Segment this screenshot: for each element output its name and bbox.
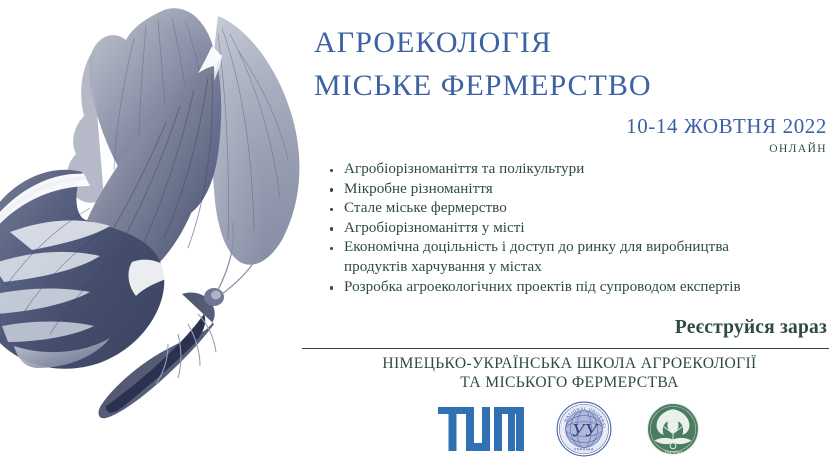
tum-logo <box>438 407 524 451</box>
list-item: Стале міське фермерство <box>328 199 788 219</box>
tree-emblem-caption: Україна <box>664 449 682 455</box>
seal-monogram: УУ <box>571 420 599 441</box>
horizontal-divider <box>302 348 829 349</box>
list-item: Розробка агроекологічних проектів під су… <box>328 278 788 298</box>
list-item: Мікробне різноманіття <box>328 180 788 200</box>
butterfly-illustration <box>0 0 316 473</box>
university-seal-logo: УУ NATIONAL UNIVERSITY УКРАЇНА <box>556 401 612 457</box>
topics-list: Агробіорізноманіття та полікультури Мікр… <box>328 160 788 297</box>
list-item: Агробіорізноманіття у місті <box>328 219 788 239</box>
poster-canvas: АГРОЕКОЛОГІЯ МІСЬКЕ ФЕРМЕРСТВО 10-14 ЖОВ… <box>0 0 839 473</box>
school-name-line-2: ТА МІСЬКОГО ФЕРМЕРСТВА <box>300 373 839 392</box>
content-column: АГРОЕКОЛОГІЯ МІСЬКЕ ФЕРМЕРСТВО 10-14 ЖОВ… <box>300 0 839 473</box>
school-name-line-1: НІМЕЦЬКО-УКРАЇНСЬКА ШКОЛА АГРОЕКОЛОГІЇ <box>300 354 839 373</box>
register-cta[interactable]: Реєструйся зараз <box>675 317 827 339</box>
school-name: НІМЕЦЬКО-УКРАЇНСЬКА ШКОЛА АГРОЕКОЛОГІЇ Т… <box>300 354 839 392</box>
list-item: Агробіорізноманіття та полікультури <box>328 160 788 180</box>
seal-caption: УКРАЇНА <box>573 446 593 451</box>
list-item: Економічна доцільність і доступ до ринку… <box>328 238 788 277</box>
event-format: ОНЛАЙН <box>769 143 827 155</box>
event-date: 10-14 ЖОВТНЯ 2022 <box>626 114 827 139</box>
tree-emblem-logo: Україна <box>644 400 702 458</box>
logo-row: УУ NATIONAL UNIVERSITY УКРАЇНА <box>300 396 839 462</box>
page-title: АГРОЕКОЛОГІЯ МІСЬКЕ ФЕРМЕРСТВО <box>314 22 814 107</box>
title-line-1: АГРОЕКОЛОГІЯ <box>314 22 814 65</box>
title-line-2: МІСЬКЕ ФЕРМЕРСТВО <box>314 65 814 108</box>
